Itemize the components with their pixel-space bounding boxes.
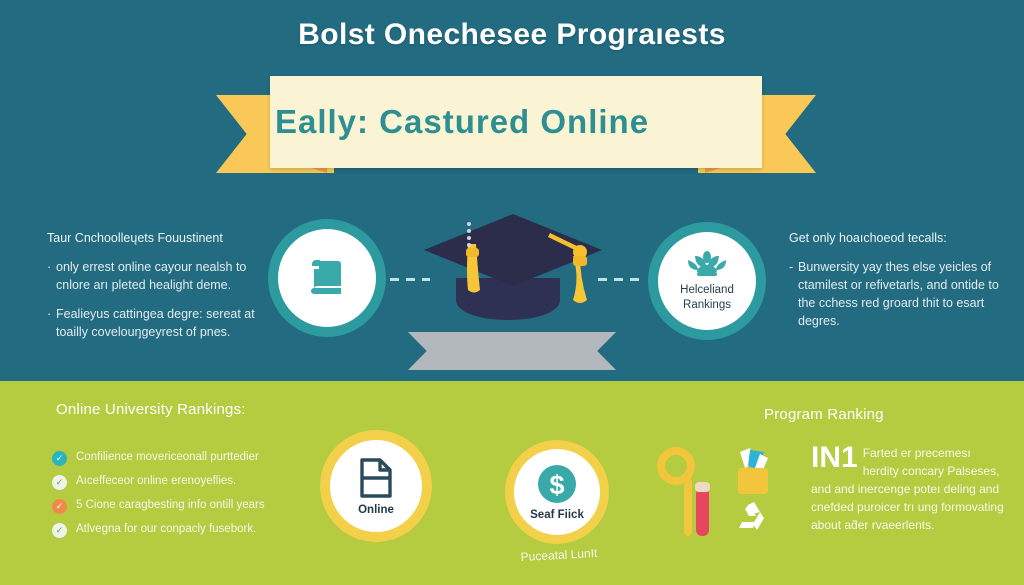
infographic-poster: Bolst Onechesee Prograıests Eally: Castu… [0, 0, 1024, 585]
right-block-title: Get only hoaıchoeod tecalls: [789, 231, 1004, 247]
stat-number: IN1 [811, 444, 858, 472]
left-text-block: Taur Cnchoolleųets Fouustinent · only er… [47, 231, 262, 352]
cost-badge-inner: $ Seaf Fiick [514, 449, 600, 535]
check-icon: ✓ [52, 475, 67, 490]
list-item-label: Atlvegna for our conpacly fusebork. [76, 522, 256, 537]
list-item: ✓ Atlvegna for our conpacly fusebork. [52, 522, 302, 538]
checklist: ✓ Confilience movericeonall purttedier ✓… [52, 450, 302, 546]
cost-badge-label: Seaf Fiick [530, 509, 584, 521]
list-item: ✓ Confilience movericeonall purttedier [52, 450, 302, 466]
check-icon: ✓ [52, 499, 67, 514]
left-block-title: Taur Cnchoolleųets Fouustinent [47, 231, 262, 247]
rankings-circle-node[interactable]: Helceliand Rankings [648, 222, 766, 340]
rankings-circle-inner: Helceliand Rankings [658, 232, 756, 330]
left-block-item: · Fealieyus cattingeа degre: sereat at t… [47, 305, 262, 341]
check-icon: ✓ [52, 451, 67, 466]
document-icon [356, 456, 396, 500]
book-circle-node[interactable] [268, 219, 386, 337]
program-stat: IN1 Farted er precemesı herdity concary … [811, 444, 1007, 534]
test-tube-icon [695, 482, 710, 536]
science-icon-cluster [650, 444, 776, 544]
cost-badge[interactable]: $ Seaf Fiick [505, 440, 609, 544]
check-icon: ✓ [52, 523, 67, 538]
online-badge-label: Online [358, 504, 394, 516]
left-block-item-text: Fealieyus cattingeа degre: sereat at toa… [56, 307, 255, 339]
list-item-label: 5 Cione caragbesting info ontill years [76, 498, 265, 513]
list-item: ✓ Aıceffeceor online erenoyeflies. [52, 474, 302, 490]
dollar-icon: $ [536, 463, 578, 505]
right-block-item-text: Bunwersity yay thes else yeicles of ctam… [798, 260, 999, 328]
magnifier-icon [661, 451, 692, 536]
right-text-block: Get only hoaıchoeod tecalls: - Bunwersit… [789, 231, 1004, 341]
recycle-icon [739, 502, 764, 530]
green-right-title: Program Ranking [764, 406, 884, 423]
left-block-item-text: only errest online cayour nealsh to cnlo… [56, 260, 246, 292]
list-item: ✓ 5 Cione caragbesting info ontill years [52, 498, 302, 514]
list-item-label: Confilience movericeonall purttedier [76, 450, 259, 465]
svg-text:$: $ [549, 470, 564, 500]
ribbon-banner: Eally: Castured Online [216, 76, 816, 172]
scroll-ribbon [408, 332, 616, 370]
left-block-item: · only errest online cayour nealsh to cn… [47, 258, 262, 294]
online-badge[interactable]: Online [320, 430, 432, 542]
graduation-cap-icon [418, 208, 608, 328]
page-title: Bolst Onechesee Prograıests [0, 18, 1024, 52]
bullet-dash: · [47, 258, 51, 276]
green-left-title: Online University Rankings: [56, 401, 246, 418]
book-circle-inner [278, 229, 376, 327]
ribbon-title: Eally: Castured Online [216, 76, 708, 168]
laurel-icon [686, 250, 728, 280]
online-badge-inner: Online [330, 440, 422, 532]
bullet-dash: · [47, 305, 51, 323]
right-block-item: - Bunwersity yay thes else yeicles of ct… [789, 258, 1004, 331]
list-item-label: Aıceffeceor online erenoyeflies. [76, 474, 236, 489]
rankings-label: Helceliand Rankings [658, 283, 756, 311]
pencils-cup-icon [738, 448, 768, 494]
book-icon [301, 252, 353, 304]
bullet-dash: - [789, 258, 793, 276]
